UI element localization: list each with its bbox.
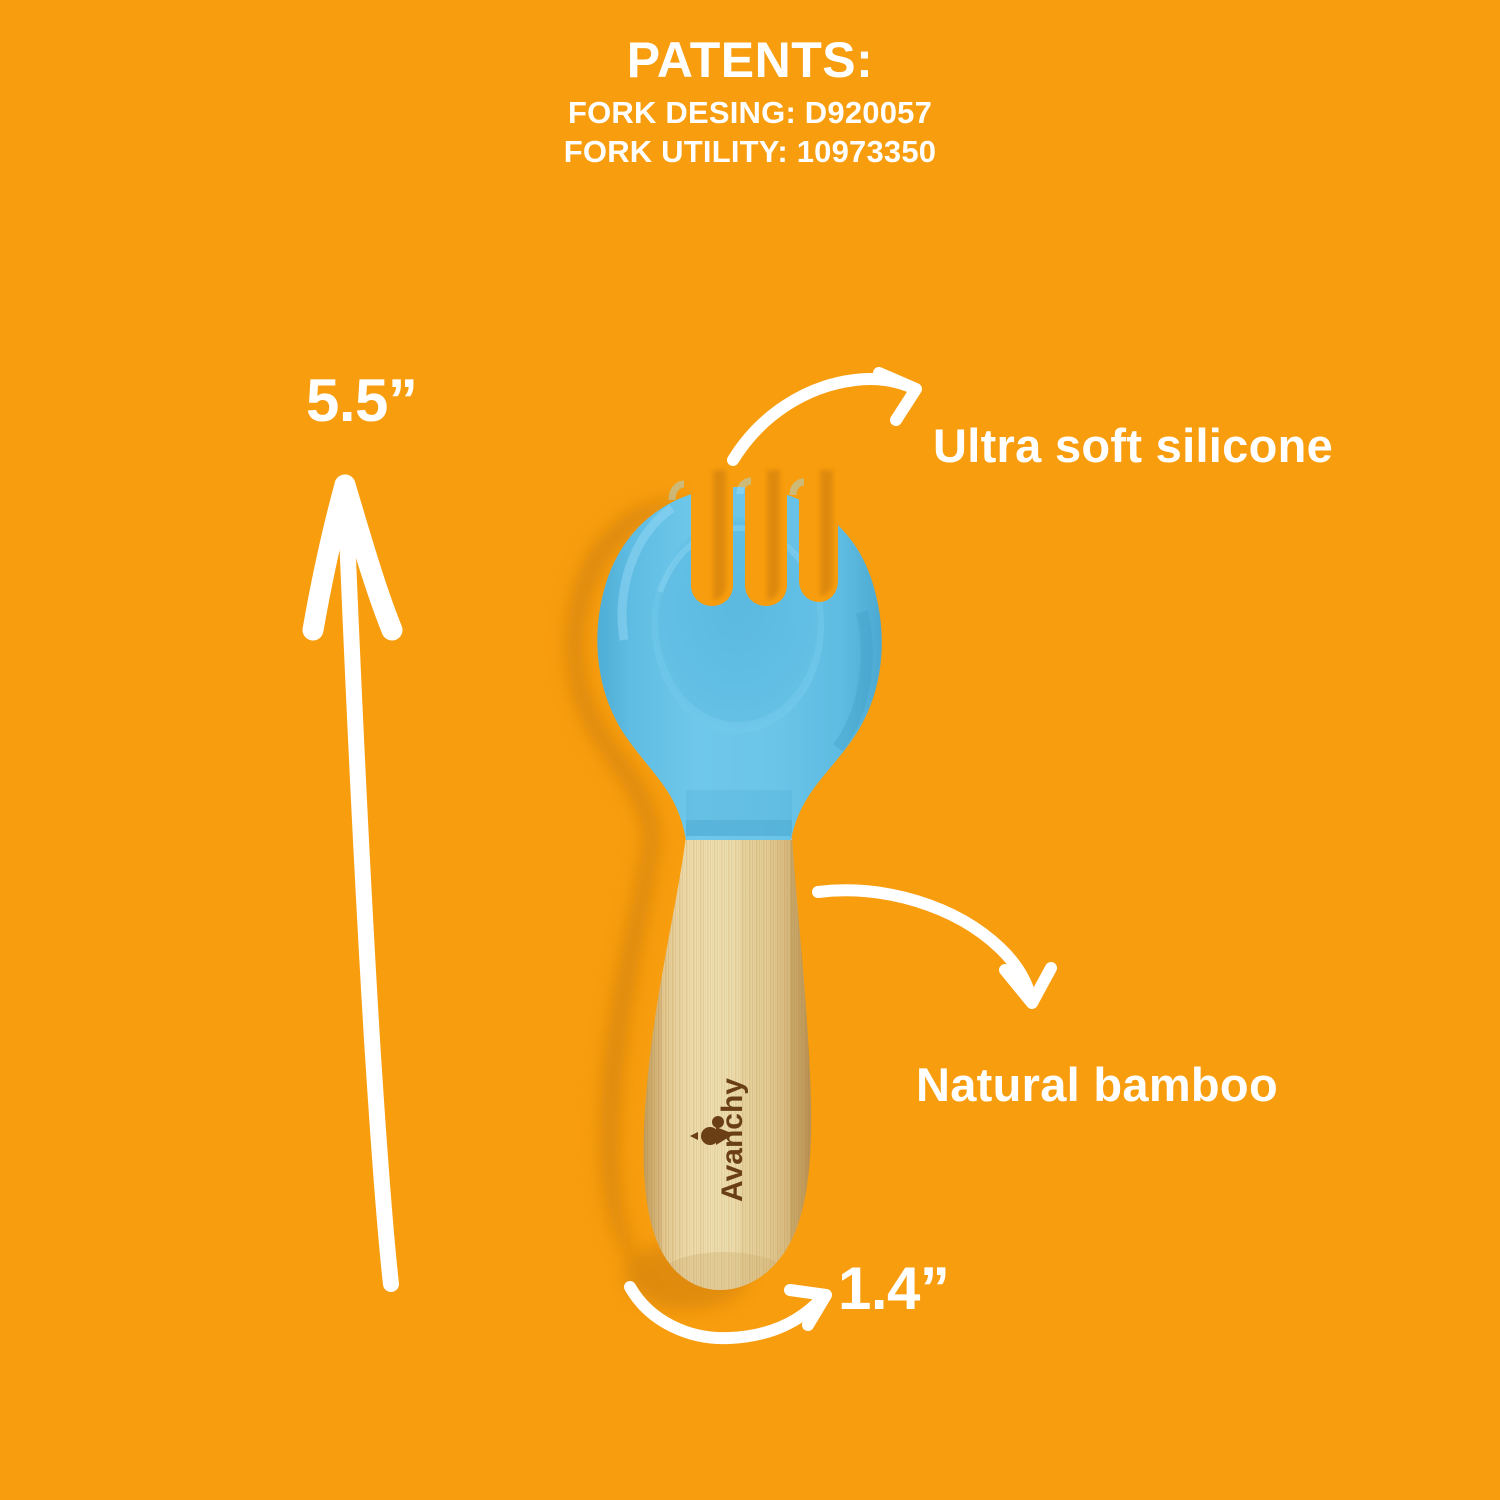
curved-arrow-up-right-icon [733,373,916,460]
long-up-arrow-icon [313,485,392,1284]
infographic-canvas: PATENTS: FORK DESING: D920057 FORK UTILI… [0,0,1500,1500]
curved-arrow-right-icon [630,1287,826,1338]
annotation-arrows [0,0,1500,1500]
curved-arrow-down-right-icon [818,890,1051,1003]
